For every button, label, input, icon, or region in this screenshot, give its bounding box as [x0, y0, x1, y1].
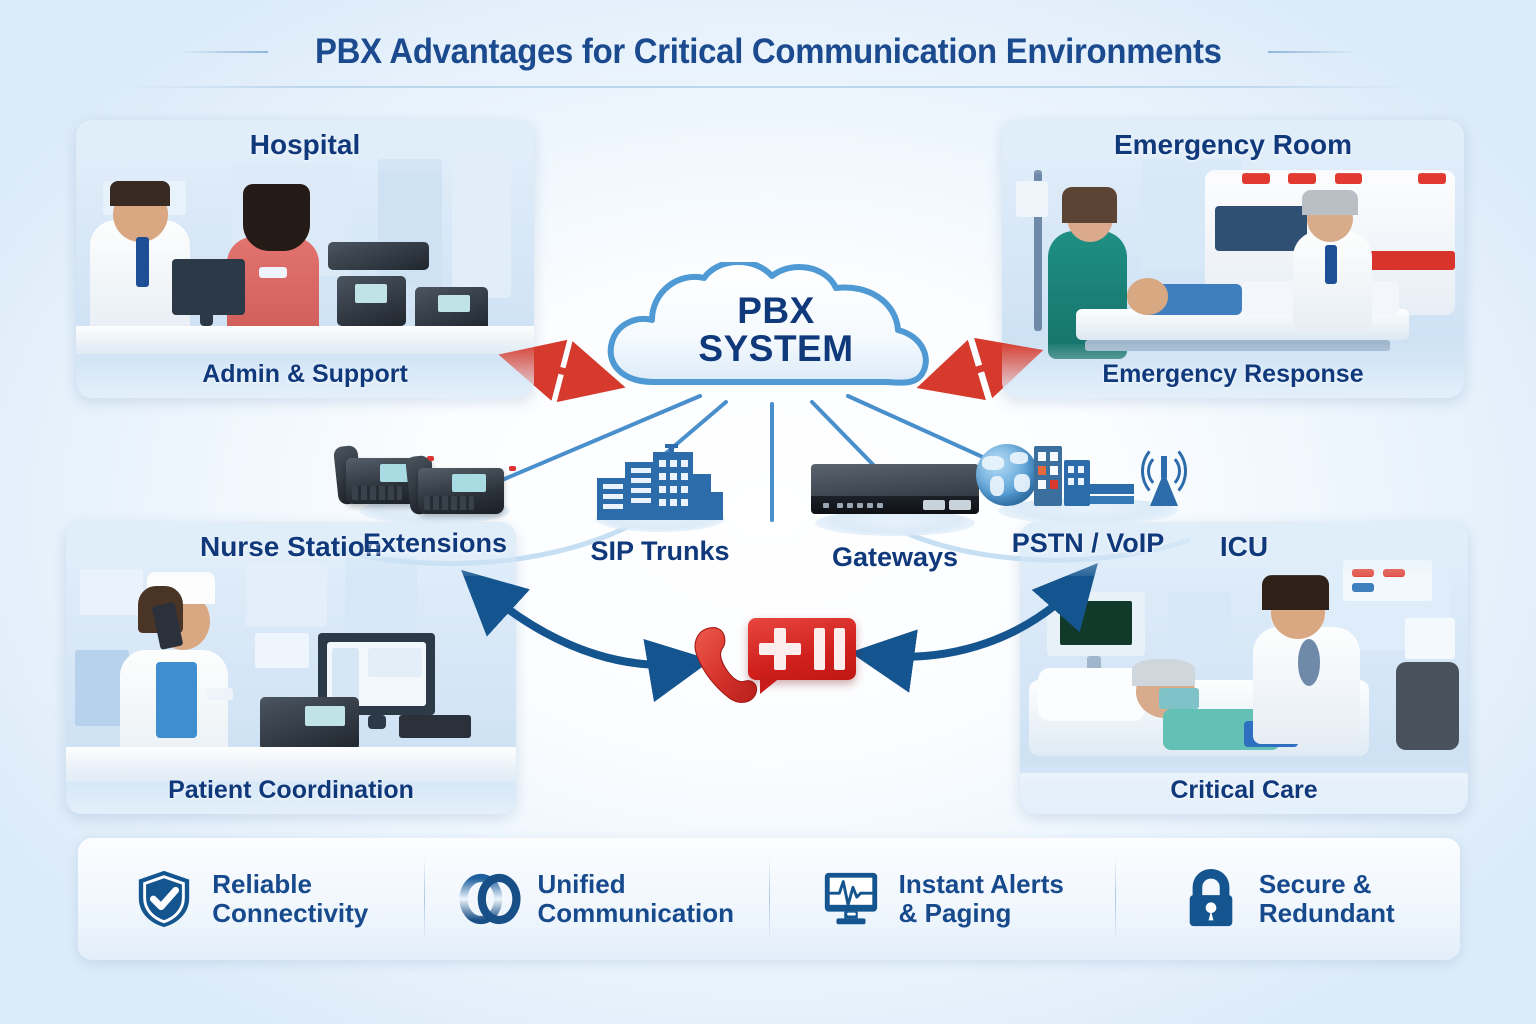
- benefits-bar: Reliable Connectivity Unified Communicat: [78, 838, 1460, 960]
- pbx-system-node[interactable]: PBX SYSTEM: [596, 262, 956, 410]
- node-sip-trunks-label: SIP Trunks: [570, 536, 750, 567]
- medical-cross-badge-icon: [748, 618, 856, 680]
- panel-hospital-caption: Admin & Support: [76, 360, 534, 389]
- node-pstn-voip-label: PSTN / VoIP: [968, 528, 1208, 559]
- benefit-unified-communication[interactable]: Unified Communication: [424, 838, 770, 960]
- shield-check-icon: [133, 868, 195, 930]
- office-buildings-icon: [570, 444, 750, 522]
- title-rule-right: [1268, 51, 1358, 53]
- benefit-reliable-connectivity-label: Reliable Connectivity: [212, 870, 368, 928]
- benefit-line1: Instant Alerts: [899, 870, 1064, 899]
- panel-icu-caption: Critical Care: [1020, 776, 1468, 805]
- emergency-call-icon[interactable]: [686, 608, 856, 718]
- benefit-line1: Unified: [538, 870, 734, 899]
- page-title-text: PBX Advantages for Critical Communicatio…: [315, 32, 1222, 72]
- node-sip-trunks[interactable]: SIP Trunks: [570, 444, 750, 567]
- linked-rings-icon: [459, 868, 521, 930]
- benefit-line2: Communication: [538, 899, 734, 928]
- benefit-secure-redundant[interactable]: Secure & Redundant: [1115, 838, 1461, 960]
- infographic-canvas: PBX Advantages for Critical Communicatio…: [0, 0, 1536, 1024]
- panel-icu[interactable]: ICU Critical Care: [1020, 522, 1468, 814]
- benefit-line2: & Paging: [899, 899, 1064, 928]
- panel-emergency-room[interactable]: Emergency Room Emergency Response: [1002, 120, 1464, 398]
- title-underline: [120, 86, 1416, 88]
- node-extensions-label: Extensions: [330, 528, 540, 559]
- benefit-line2: Connectivity: [212, 899, 368, 928]
- benefit-reliable-connectivity[interactable]: Reliable Connectivity: [78, 838, 424, 960]
- benefit-instant-alerts-label: Instant Alerts & Paging: [899, 870, 1064, 928]
- benefit-line1: Secure &: [1259, 870, 1395, 899]
- panel-emergency-room-caption: Emergency Response: [1002, 360, 1464, 389]
- desk-phone-icon: [330, 436, 540, 514]
- title-rule-left: [178, 51, 268, 53]
- node-pstn-voip[interactable]: PSTN / VoIP: [968, 436, 1208, 559]
- cloud-icon: [596, 262, 956, 410]
- globe-tower-icon: [968, 436, 1208, 514]
- benefit-secure-redundant-label: Secure & Redundant: [1259, 870, 1395, 928]
- panel-nurse-station[interactable]: Nurse Station Patient Coordination: [66, 522, 516, 814]
- monitor-vitals-icon: [820, 868, 882, 930]
- benefit-line2: Redundant: [1259, 899, 1395, 928]
- panel-emergency-room-title: Emergency Room: [1002, 129, 1464, 161]
- panel-hospital[interactable]: Hospital Admin & Support: [76, 120, 534, 398]
- panel-nurse-station-caption: Patient Coordination: [66, 776, 516, 805]
- benefit-unified-communication-label: Unified Communication: [538, 870, 734, 928]
- page-title: PBX Advantages for Critical Communicatio…: [0, 22, 1536, 82]
- lock-icon: [1180, 868, 1242, 930]
- benefit-line1: Reliable: [212, 870, 368, 899]
- panel-hospital-title: Hospital: [76, 129, 534, 161]
- node-extensions[interactable]: Extensions: [330, 436, 540, 559]
- benefit-instant-alerts[interactable]: Instant Alerts & Paging: [769, 838, 1115, 960]
